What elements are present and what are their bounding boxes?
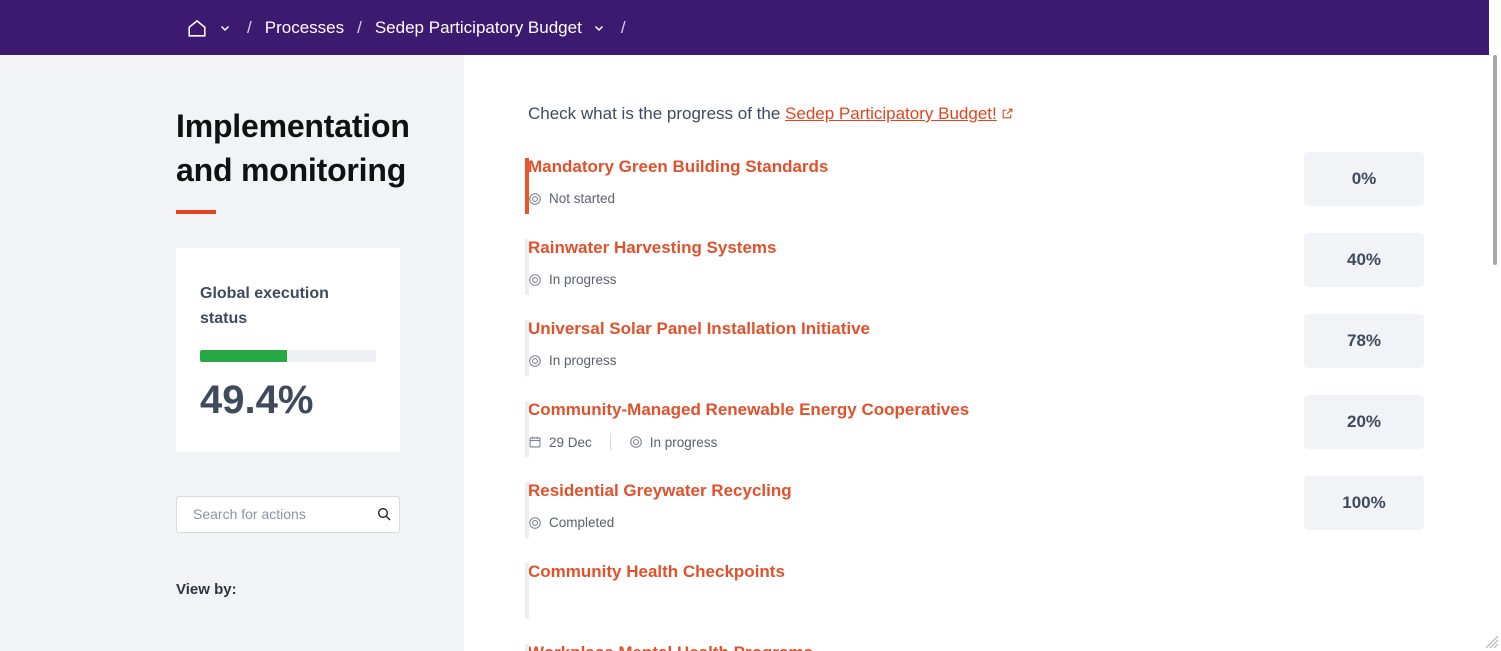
intro-prefix: Check what is the progress of the (528, 104, 785, 123)
target-icon (528, 354, 542, 368)
search-actions-box[interactable] (176, 496, 400, 533)
action-status-bar (525, 158, 529, 214)
global-progress-value: 49.4% (200, 378, 376, 422)
action-meta: Completed (528, 515, 1304, 530)
action-meta: Not started (528, 191, 1304, 206)
action-date: 29 Dec (528, 435, 592, 450)
action-date-label: 29 Dec (549, 435, 592, 450)
meta-divider (610, 434, 611, 450)
target-icon (629, 435, 643, 449)
breadcrumb-item-participatory-budget[interactable]: Sedep Participatory Budget (375, 18, 582, 38)
action-row: Mandatory Green Building StandardsNot st… (464, 150, 1489, 231)
action-title-link[interactable]: Residential Greywater Recycling (528, 480, 792, 502)
external-link-icon (1001, 105, 1014, 125)
action-percent-badge: 78% (1304, 314, 1424, 368)
action-row: Rainwater Harvesting SystemsIn progress4… (464, 231, 1489, 312)
action-row-body: Workplace Mental Health Programs (528, 636, 1304, 651)
action-percent-badge: 20% (1304, 395, 1424, 449)
action-status-label: Completed (549, 515, 614, 530)
app-root: / Processes / Sedep Participatory Budget… (0, 0, 1501, 651)
action-status-bar (525, 401, 529, 457)
window-resize-grip[interactable] (1485, 635, 1499, 649)
action-meta: 29 DecIn progress (528, 434, 1304, 450)
action-row: Workplace Mental Health Programs (464, 636, 1489, 651)
search-icon[interactable] (376, 506, 392, 522)
action-title-link[interactable]: Rainwater Harvesting Systems (528, 237, 777, 259)
action-title-link[interactable]: Universal Solar Panel Installation Initi… (528, 318, 870, 340)
action-row: Universal Solar Panel Installation Initi… (464, 312, 1489, 393)
chevron-down-icon[interactable] (216, 19, 234, 37)
action-meta: In progress (528, 272, 1304, 287)
breadcrumb-separator: / (621, 19, 626, 36)
action-title-link[interactable]: Community-Managed Renewable Energy Coope… (528, 399, 969, 421)
action-status-label: In progress (549, 272, 617, 287)
action-percent-badge: 40% (1304, 233, 1424, 287)
action-status-bar (525, 563, 529, 619)
action-percent-badge (1304, 557, 1424, 611)
sidebar: Implementation and monitoring Global exe… (0, 55, 464, 651)
page-scrollbar[interactable] (1489, 55, 1501, 651)
action-percent-badge (1304, 638, 1424, 651)
action-list: Mandatory Green Building StandardsNot st… (464, 150, 1489, 651)
action-status: In progress (528, 272, 617, 287)
breadcrumb-separator: / (247, 19, 252, 36)
action-row-body: Rainwater Harvesting SystemsIn progress (528, 231, 1304, 287)
action-title-link[interactable]: Community Health Checkpoints (528, 561, 785, 583)
global-execution-status-card: Global execution status 49.4% (176, 248, 400, 452)
action-status-bar (525, 239, 529, 295)
action-status-bar (525, 320, 529, 376)
participatory-budget-link[interactable]: Sedep Participatory Budget! (785, 104, 997, 123)
action-status: Completed (528, 515, 614, 530)
action-percent-badge: 0% (1304, 152, 1424, 206)
chevron-down-icon[interactable] (590, 19, 608, 37)
target-icon (528, 192, 542, 206)
action-status: In progress (528, 353, 617, 368)
breadcrumb-item-processes[interactable]: Processes (265, 18, 344, 38)
title-underline-rule (176, 210, 216, 214)
target-icon (528, 516, 542, 530)
global-progress-fill (200, 350, 287, 362)
action-row: Residential Greywater RecyclingCompleted… (464, 474, 1489, 555)
calendar-icon (528, 435, 542, 449)
action-meta: In progress (528, 353, 1304, 368)
main-content: Check what is the progress of the Sedep … (464, 55, 1489, 651)
action-status-label: In progress (650, 435, 718, 450)
action-row-body: Community-Managed Renewable Energy Coope… (528, 393, 1304, 450)
action-row-body: Community Health Checkpoints (528, 555, 1304, 583)
page-title: Implementation and monitoring (176, 104, 446, 192)
action-row: Community Health Checkpoints (464, 555, 1489, 636)
action-row: Community-Managed Renewable Energy Coope… (464, 393, 1489, 474)
target-icon (528, 273, 542, 287)
action-row-body: Residential Greywater RecyclingCompleted (528, 474, 1304, 530)
action-status-bar (525, 482, 529, 538)
action-title-link[interactable]: Workplace Mental Health Programs (528, 642, 813, 651)
scrollbar-thumb[interactable] (1493, 55, 1497, 265)
action-title-link[interactable]: Mandatory Green Building Standards (528, 156, 828, 178)
action-status-bar (525, 644, 529, 651)
breadcrumb: / Processes / Sedep Participatory Budget… (186, 0, 639, 55)
breadcrumb-separator: / (357, 19, 362, 36)
action-status-label: In progress (549, 353, 617, 368)
global-progress-bar (200, 350, 376, 362)
action-row-body: Universal Solar Panel Installation Initi… (528, 312, 1304, 368)
home-icon[interactable] (186, 17, 208, 39)
top-navigation-bar: / Processes / Sedep Participatory Budget… (0, 0, 1489, 55)
action-status-label: Not started (549, 191, 615, 206)
status-card-title: Global execution status (200, 282, 360, 332)
action-status: In progress (629, 435, 718, 450)
intro-text: Check what is the progress of the Sedep … (528, 104, 1489, 125)
action-row-body: Mandatory Green Building StandardsNot st… (528, 150, 1304, 206)
view-by-label: View by: (176, 581, 464, 598)
search-input[interactable] (191, 505, 376, 523)
action-percent-badge: 100% (1304, 476, 1424, 530)
action-status: Not started (528, 191, 615, 206)
